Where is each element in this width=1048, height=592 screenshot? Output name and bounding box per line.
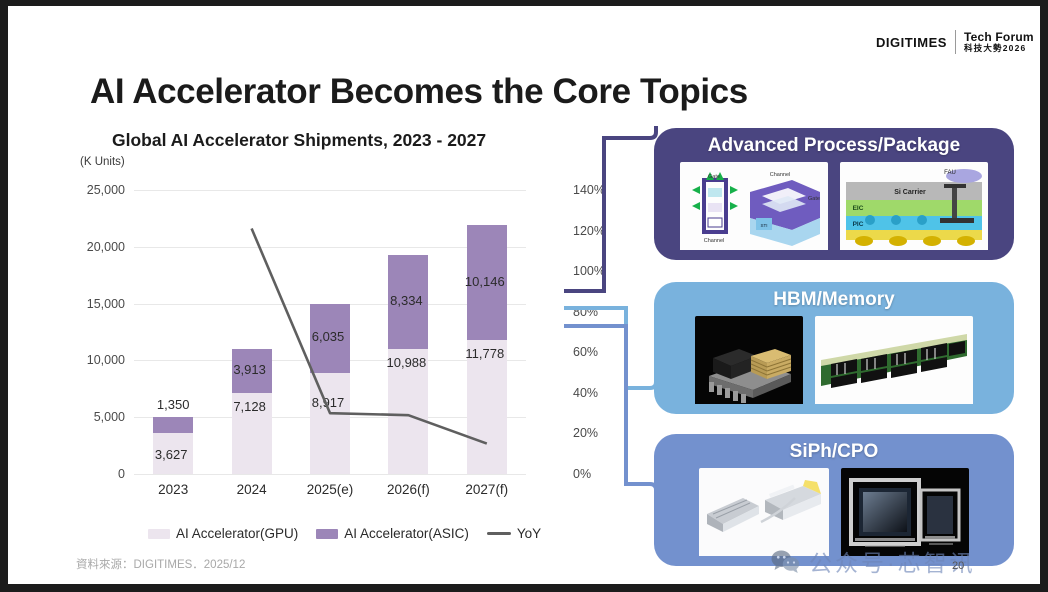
chart-plot-area: 05,00010,00015,00020,00025,000 0%20%40%6… bbox=[134, 190, 526, 474]
y-axis-tick-label: 20,000 bbox=[87, 240, 125, 254]
slide-title: AI Accelerator Becomes the Core Topics bbox=[90, 72, 748, 112]
svg-text:Si Carrier: Si Carrier bbox=[894, 189, 926, 196]
x-axis-tick-label: 2026(f) bbox=[387, 482, 430, 497]
chart-container: Global AI Accelerator Shipments, 2023 - … bbox=[56, 124, 601, 569]
yoy-polyline bbox=[252, 229, 487, 444]
digitimes-logo: DIGITIMES Tech Forum 科技大勢2026 bbox=[876, 30, 1034, 54]
y-axis-tick-label: 25,000 bbox=[87, 183, 125, 197]
y-axis-tick-label: 15,000 bbox=[87, 297, 125, 311]
watermark: 公众号·芯智讯 bbox=[770, 544, 976, 578]
svg-text:FAU: FAU bbox=[944, 170, 956, 176]
panel-images-hbm-memory bbox=[654, 316, 1014, 409]
y-axis-tick-label: 5,000 bbox=[94, 410, 125, 424]
logo-forum-zh: 科技大勢2026 bbox=[964, 44, 1034, 53]
svg-text:EIC: EIC bbox=[853, 205, 864, 212]
legend-item-yoy: YoY bbox=[487, 526, 541, 541]
svg-text:Channel: Channel bbox=[704, 238, 725, 244]
si-carrier-eic-pic-diagram: FAU Si Carrier EIC PIC bbox=[840, 162, 988, 255]
slide-canvas: DIGITIMES Tech Forum 科技大勢2026 AI Acceler… bbox=[8, 6, 1040, 584]
legend-label-yoy: YoY bbox=[517, 526, 541, 541]
gaa-transistor-diagram: Gate Channel STI Channel Gate bbox=[680, 162, 828, 255]
panel-title-advanced-process: Advanced Process/Package bbox=[654, 135, 1014, 157]
legend-item-asic: AI Accelerator(ASIC) bbox=[316, 526, 469, 541]
logo-divider bbox=[955, 30, 956, 54]
x-axis-tick-label: 2024 bbox=[237, 482, 267, 497]
page-number: 20 bbox=[952, 560, 964, 572]
y-axis-tick-label: 10,000 bbox=[87, 353, 125, 367]
chart-legend: AI Accelerator(GPU) AI Accelerator(ASIC)… bbox=[148, 526, 541, 541]
yoy-line-series bbox=[134, 190, 526, 474]
panel-title-hbm-memory: HBM/Memory bbox=[654, 289, 1014, 311]
legend-item-gpu: AI Accelerator(GPU) bbox=[148, 526, 298, 541]
memory-module-photo bbox=[815, 316, 973, 409]
logo-forum-en: Tech Forum bbox=[964, 31, 1034, 44]
legend-swatch-gpu bbox=[148, 529, 170, 539]
chart-title: Global AI Accelerator Shipments, 2023 - … bbox=[112, 130, 486, 151]
x-axis-tick-label: 2023 bbox=[158, 482, 188, 497]
svg-text:PIC: PIC bbox=[853, 221, 864, 228]
logo-brand-text: DIGITIMES bbox=[876, 35, 947, 50]
y-axis-tick-label: 0 bbox=[118, 467, 125, 481]
panel-title-siph-cpo: SiPh/CPO bbox=[654, 441, 1014, 463]
legend-swatch-yoy bbox=[487, 532, 511, 535]
panel-images-advanced-process: Gate Channel STI Channel Gate bbox=[654, 162, 1014, 255]
panel-hbm-memory[interactable]: HBM/Memory bbox=[654, 282, 1014, 414]
svg-text:Gate: Gate bbox=[808, 196, 820, 202]
chart-unit-label: (K Units) bbox=[80, 156, 125, 168]
panel-advanced-process-package[interactable]: Advanced Process/Package Gate Channel bbox=[654, 128, 1014, 260]
chart-source-note: 資料來源：DIGITIMES．2025/12 bbox=[76, 556, 245, 572]
svg-text:STI: STI bbox=[760, 223, 767, 228]
legend-label-asic: AI Accelerator(ASIC) bbox=[344, 526, 469, 541]
gridline bbox=[134, 474, 526, 475]
svg-text:Channel: Channel bbox=[770, 172, 791, 178]
x-axis-tick-label: 2027(f) bbox=[465, 482, 508, 497]
wechat-icon bbox=[770, 549, 800, 573]
watermark-text: 公众号·芯智讯 bbox=[809, 544, 976, 578]
legend-label-gpu: AI Accelerator(GPU) bbox=[176, 526, 298, 541]
svg-text:Gate: Gate bbox=[708, 174, 720, 180]
legend-swatch-asic bbox=[316, 529, 338, 539]
logo-forum-block: Tech Forum 科技大勢2026 bbox=[964, 31, 1034, 54]
hbm-stack-photo bbox=[695, 316, 803, 409]
x-axis-tick-label: 2025(e) bbox=[307, 482, 354, 497]
